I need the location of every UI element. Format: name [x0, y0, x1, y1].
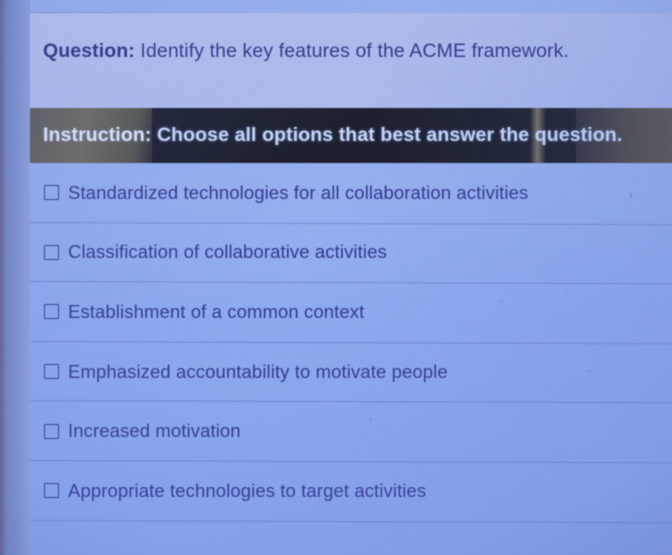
option-row[interactable]: Establishment of a common context — [30, 282, 672, 342]
option-label: Establishment of a common context — [68, 301, 364, 323]
question-label: Question: — [43, 40, 135, 62]
instruction-label: Instruction: — [43, 124, 151, 146]
quiz-screen: Question: Identify the key features of t… — [0, 0, 672, 555]
option-label: Standardized technologies for all collab… — [68, 182, 528, 204]
checkbox-icon[interactable] — [44, 185, 59, 200]
checkbox-icon[interactable] — [44, 424, 59, 439]
question-block: Question: Identify the key features of t… — [30, 13, 672, 108]
checkbox-icon[interactable] — [44, 483, 59, 498]
option-label: Classification of collaborative activiti… — [68, 241, 387, 263]
instruction-banner: Instruction: Choose all options that bes… — [30, 108, 672, 163]
checkbox-icon[interactable] — [44, 364, 59, 379]
option-row[interactable]: Increased motivation — [30, 401, 672, 461]
option-label: Appropriate technologies to target activ… — [68, 480, 426, 502]
quiz-card: Question: Identify the key features of t… — [30, 0, 672, 555]
option-label: Emphasized accountability to motivate pe… — [68, 361, 448, 383]
option-row[interactable]: Classification of collaborative activiti… — [30, 223, 672, 283]
question-text: Question: Identify the key features of t… — [43, 39, 569, 63]
screen-left-edge — [0, 0, 6, 555]
checkbox-icon[interactable] — [44, 245, 59, 260]
checkbox-icon[interactable] — [44, 304, 59, 319]
option-list: Standardized technologies for all collab… — [30, 163, 672, 555]
option-row[interactable]: Emphasized accountability to motivate pe… — [30, 342, 672, 402]
option-row[interactable]: Appropriate technologies to target activ… — [30, 461, 672, 521]
option-row-partial[interactable] — [30, 521, 672, 555]
question-body: Identify the key features of the ACME fr… — [135, 40, 569, 62]
option-row[interactable]: Standardized technologies for all collab… — [30, 163, 672, 223]
instruction-body: Choose all options that best answer the … — [151, 124, 622, 146]
instruction-text: Instruction: Choose all options that bes… — [43, 124, 622, 147]
option-label: Increased motivation — [68, 420, 241, 442]
